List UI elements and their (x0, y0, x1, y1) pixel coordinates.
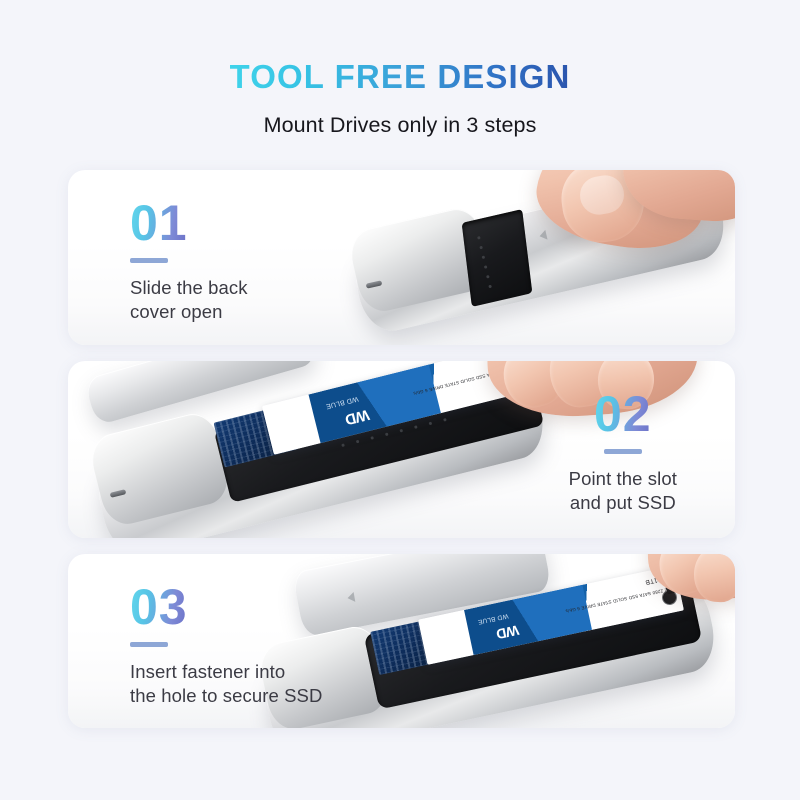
sliding-back-cover (462, 209, 533, 307)
step-2-rule (604, 449, 642, 454)
page-title: TOOL FREE DESIGN (230, 58, 571, 96)
step-3-rule (130, 642, 168, 647)
step-card-1: 01 Slide the back cover open (68, 170, 735, 345)
step-3-description: Insert fastener into the hole to secure … (130, 660, 322, 707)
step-3-number: 03 (130, 582, 188, 632)
step-1-text: 01 Slide the back cover open (130, 198, 248, 323)
step-2-number: 02 (594, 389, 652, 439)
header: TOOL FREE DESIGN Mount Drives only in 3 … (0, 0, 800, 138)
step-1-description: Slide the back cover open (130, 276, 248, 323)
step-1-number: 01 (130, 198, 188, 248)
direction-arrow-icon (347, 592, 356, 603)
step-1-rule (130, 258, 168, 263)
step-2-text: 02 Point the slot and put SSD (569, 389, 677, 514)
step-2-description: Point the slot and put SSD (569, 467, 677, 514)
step-3-text: 03 Insert fastener into the hole to secu… (130, 582, 322, 707)
step-card-2: WD WD BLUE 1TB 1TB M.2 2280 SATA SSD SOL… (68, 361, 735, 538)
page-subtitle: Mount Drives only in 3 steps (0, 113, 800, 138)
step-card-3: WD WD BLUE 1TB 1TB M.2 2280 SATA SSD SOL… (68, 554, 735, 728)
